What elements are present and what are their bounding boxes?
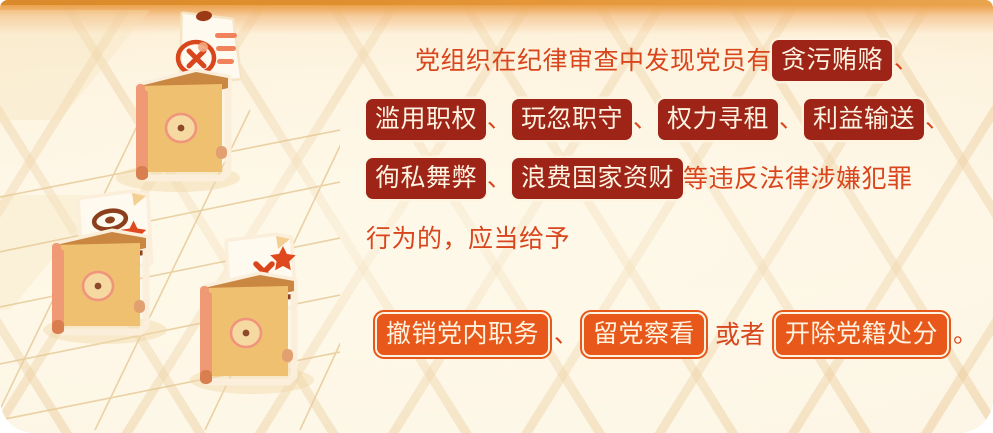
folder-top [116, 10, 240, 192]
violation-chip-xusiwubi: 徇私舞弊 [366, 158, 486, 199]
policy-text-block: 党组织在纪律审查中发现党员有 贪污贿赂 、 滥用职权 、 玩忽职守 、 权力寻租… [352, 22, 912, 412]
violation-chip-langfeiguojiazicai: 浪费国家资财 [512, 158, 683, 199]
line3-sep-1: 、 [487, 166, 511, 190]
line4-text: 行为的，应当给予 [366, 226, 570, 251]
line2-sep-2: 、 [633, 107, 657, 131]
text-line-3: 徇私舞弊 、 浪费国家资财 等违反法律涉嫌犯罪 [366, 159, 912, 197]
line5-sep-1: 、 [554, 322, 578, 346]
folder-bottom [190, 236, 314, 394]
penalty-chip-liudangchakan: 留党察看 [582, 312, 706, 357]
penalty-chip-kaichudangjichufen: 开除党籍处分 [774, 312, 949, 357]
line1-trailing-punct: 、 [894, 48, 918, 72]
text-line-4: 行为的，应当给予 [366, 219, 912, 257]
line5-conjunction: 或者 [709, 322, 771, 347]
violation-chip-lanyongzhiquan: 滥用职权 [366, 99, 486, 140]
violation-chip-tanwuhuilu: 贪污贿赂 [772, 40, 892, 81]
line2-sep-3: 、 [779, 107, 803, 131]
line1-lead-text: 党组织在纪律审查中发现党员有 [415, 48, 772, 73]
poster-canvas: 党组织在纪律审查中发现党员有 贪污贿赂 、 滥用职权 、 玩忽职守 、 权力寻租… [0, 0, 993, 433]
line5-period: 。 [953, 322, 977, 346]
isometric-folders-illustration [0, 0, 340, 433]
text-line-5: 撤销党内职务 、 留党察看 或者 开除党籍处分 。 [372, 315, 912, 353]
line2-trailing-punct: 、 [925, 107, 949, 131]
violation-chip-quanlixunzu: 权力寻租 [658, 99, 778, 140]
line3-tail-text: 等违反法律涉嫌犯罪 [683, 166, 913, 191]
text-line-1: 党组织在纪律审查中发现党员有 贪污贿赂 、 [415, 41, 912, 79]
line2-sep-1: 、 [487, 107, 511, 131]
violation-chip-wanhuzhishou: 玩忽职守 [512, 99, 632, 140]
violation-chip-liyishusong: 利益输送 [804, 99, 924, 140]
penalty-chip-chexiaodangneizhiwu: 撤销党内职务 [375, 312, 550, 357]
text-line-2: 滥用职权 、 玩忽职守 、 权力寻租 、 利益输送 、 [366, 100, 912, 138]
